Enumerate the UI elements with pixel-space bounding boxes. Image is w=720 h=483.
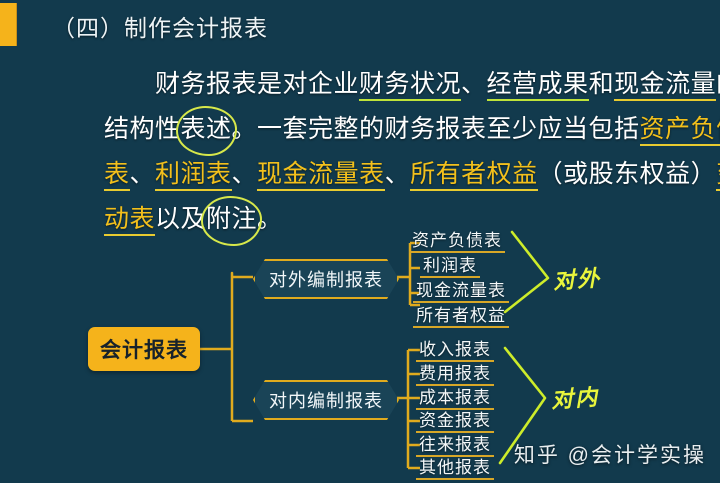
leaf-capital-report[interactable]: 资金报表	[416, 406, 494, 433]
mindmap-branch-external[interactable]: 对外编制报表	[253, 259, 399, 299]
leaf-expense-report[interactable]: 费用报表	[416, 359, 494, 386]
mindmap: 会计报表 对外编制报表 对内编制报表 资产负债表 利润表 现金流量表 所有者权益…	[0, 0, 720, 483]
leaf-other-report[interactable]: 其他报表	[416, 453, 494, 480]
slide-canvas: （四）制作会计报表 财务报表是对企业财务状况、经营成果和现金流量的 结构性表述。…	[0, 0, 720, 483]
handwritten-note-external: 对外	[552, 260, 602, 295]
leaf-owners-equity[interactable]: 所有者权益	[413, 301, 509, 328]
leaf-cash-flow-statement[interactable]: 现金流量表	[413, 276, 509, 303]
mindmap-branch-internal[interactable]: 对内编制报表	[253, 380, 399, 420]
mindmap-root-node[interactable]: 会计报表	[88, 327, 200, 371]
leaf-balance-sheet[interactable]: 资产负债表	[409, 226, 505, 253]
watermark: 知乎 @会计学实操	[514, 439, 706, 469]
handwritten-note-internal: 对内	[550, 379, 600, 414]
leaf-revenue-report[interactable]: 收入报表	[416, 335, 494, 362]
leaf-income-statement[interactable]: 利润表	[420, 251, 480, 278]
